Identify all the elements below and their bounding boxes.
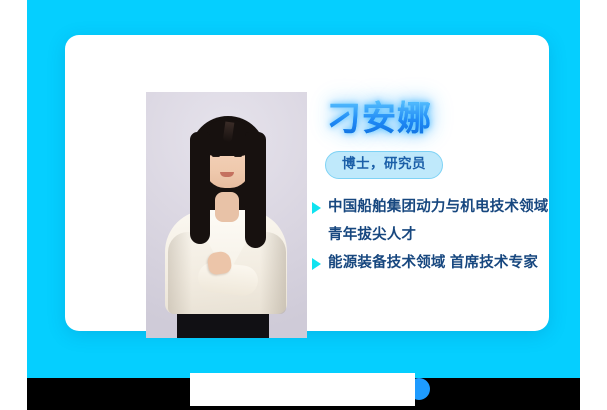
portrait-photo [146, 92, 307, 338]
credential-text: 能源装备技术领域 首席技术专家 [328, 252, 538, 276]
name-heading-fill: 刁安娜 [327, 97, 432, 141]
photo-hair-side-left [190, 132, 210, 244]
photo-blazer-shadow-right [260, 232, 286, 314]
photo-blazer-shadow-left [168, 232, 192, 314]
credentials-list: 中国船舶集团动力与机电技术领域 青年拔尖人才 能源装备技术领域 首席技术专家 [312, 196, 604, 276]
credential-text: 中国船舶集团动力与机电技术领域 [328, 196, 549, 220]
photo-neck [215, 192, 239, 222]
credential-item: 能源装备技术领域 首席技术专家 [312, 252, 604, 276]
photo-hair-side-right [245, 132, 266, 248]
credential-text: 青年拔尖人才 [328, 224, 416, 248]
name-heading: 刁安娜 刁安娜 [327, 97, 604, 145]
credential-item: 中国船舶集团动力与机电技术领域 [312, 196, 604, 220]
credential-item-continuation: 青年拔尖人才 [312, 224, 604, 248]
bottom-plate [190, 373, 415, 406]
bullet-spacer-icon [312, 230, 321, 242]
slide-stage: 刁安娜 刁安娜 博士，研究员 中国船舶集团动力与机电技术领域 青年拔尖人才 能源… [0, 0, 607, 410]
title-badge: 博士，研究员 [325, 151, 443, 179]
profile-card: 刁安娜 刁安娜 博士，研究员 中国船舶集团动力与机电技术领域 青年拔尖人才 能源… [65, 35, 549, 331]
triangle-bullet-icon [312, 258, 321, 270]
triangle-bullet-icon [312, 202, 321, 214]
profile-details: 刁安娜 刁安娜 博士，研究员 中国船舶集团动力与机电技术领域 青年拔尖人才 能源… [312, 97, 604, 280]
